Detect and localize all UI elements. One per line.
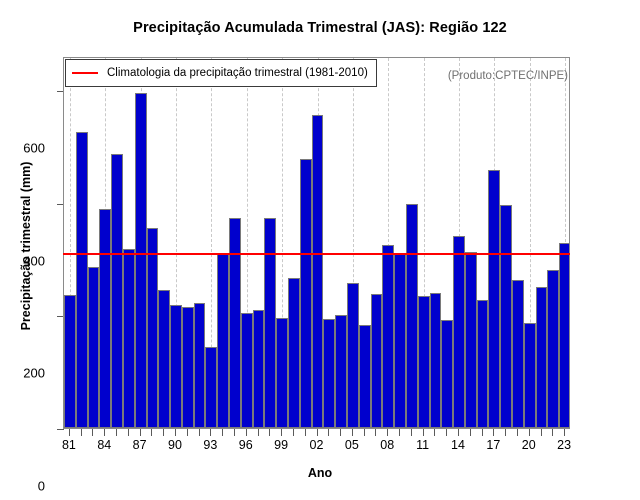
bar (536, 287, 548, 428)
bar (382, 245, 394, 428)
bar (312, 115, 324, 428)
x-axis-tick (328, 429, 329, 436)
bar (288, 278, 300, 428)
bar (147, 228, 159, 428)
bar (253, 310, 265, 428)
x-axis-tick (564, 429, 565, 436)
bar (430, 293, 442, 428)
bar (359, 325, 371, 428)
x-axis-tick-label: 11 (416, 438, 429, 452)
bar (418, 296, 430, 428)
x-axis-tick (375, 429, 376, 436)
x-axis-tick (210, 429, 211, 436)
x-axis-tick (364, 429, 365, 436)
x-axis-tick (482, 429, 483, 436)
x-axis-tick (423, 429, 424, 436)
x-axis-tick-label: 84 (97, 438, 111, 452)
bar (76, 132, 88, 428)
legend-label-climatology: Climatologia da precipitação trimestral … (107, 67, 368, 79)
bar (205, 347, 217, 428)
bar (559, 243, 569, 428)
x-axis-tick (517, 429, 518, 436)
x-axis-tick (352, 429, 353, 436)
x-axis-tick (151, 429, 152, 436)
x-axis-tick-label: 17 (486, 438, 500, 452)
bar (182, 307, 194, 428)
bar (264, 218, 276, 428)
x-axis-tick (222, 429, 223, 436)
x-axis-tick-label: 87 (133, 438, 147, 452)
chart-root: Precipitação Acumulada Trimestral (JAS):… (0, 0, 640, 500)
x-axis-tick (411, 429, 412, 436)
bar (323, 319, 335, 428)
x-axis-tick-label: 14 (451, 438, 465, 452)
bar (123, 249, 135, 428)
x-axis-tick (458, 429, 459, 436)
x-axis (63, 429, 570, 437)
x-axis-tick (529, 429, 530, 436)
x-axis-tick (128, 429, 129, 436)
bar (88, 267, 100, 428)
bar-series (64, 58, 569, 428)
bar (135, 93, 147, 428)
x-axis-tick (199, 429, 200, 436)
x-axis-tick (470, 429, 471, 436)
bar (111, 154, 123, 428)
x-axis-tick (446, 429, 447, 436)
bar (500, 205, 512, 428)
x-axis-title: Ano (0, 466, 640, 480)
bar (524, 323, 536, 428)
x-axis-tick (269, 429, 270, 436)
y-axis-tick-label: 600 (23, 140, 45, 155)
bar (217, 254, 229, 428)
bar (441, 320, 453, 428)
x-axis-tick-label: 90 (168, 438, 182, 452)
bar (453, 236, 465, 428)
bar (547, 270, 559, 428)
bar (276, 318, 288, 428)
x-axis-tick-label: 08 (380, 438, 394, 452)
bar (488, 170, 500, 428)
bar (394, 254, 406, 428)
x-axis-tick (234, 429, 235, 436)
x-axis-tick (246, 429, 247, 436)
x-axis-tick (140, 429, 141, 436)
bar (347, 283, 359, 428)
bar (477, 300, 489, 428)
bar (371, 294, 383, 428)
x-axis-tick-label: 93 (203, 438, 217, 452)
y-axis-tick-label: 400 (23, 253, 45, 268)
bar (465, 252, 477, 428)
x-axis-labels: 818487909396990205081114172023 (63, 438, 570, 458)
bar (406, 204, 418, 428)
y-axis-labels: Precipitação trimestral (mm) 0200400600 (0, 57, 57, 429)
x-axis-tick-label: 81 (62, 438, 76, 452)
x-axis-tick-label: 96 (239, 438, 253, 452)
x-axis-tick (505, 429, 506, 436)
x-axis-tick (258, 429, 259, 436)
x-axis-tick (81, 429, 82, 436)
bar (158, 290, 170, 428)
x-axis-tick (387, 429, 388, 436)
x-axis-tick (340, 429, 341, 436)
x-axis-tick (434, 429, 435, 436)
x-axis-tick (399, 429, 400, 436)
x-axis-tick (305, 429, 306, 436)
x-axis-tick (187, 429, 188, 436)
bar (99, 209, 111, 428)
page-title: Precipitação Acumulada Trimestral (JAS):… (0, 20, 640, 36)
legend-line-swatch-icon (72, 72, 98, 74)
x-axis-tick (69, 429, 70, 436)
x-axis-tick (104, 429, 105, 436)
bar (335, 315, 347, 428)
bar (64, 295, 76, 428)
y-axis-tick-label: 0 (38, 479, 45, 494)
x-axis-tick (281, 429, 282, 436)
bar (241, 313, 253, 428)
x-axis-tick (92, 429, 93, 436)
bar (300, 159, 312, 428)
climatology-reference-line (63, 253, 570, 255)
x-axis-tick-label: 20 (522, 438, 536, 452)
bar (194, 303, 206, 428)
plot-area (63, 57, 570, 429)
x-axis-tick (175, 429, 176, 436)
x-axis-tick (541, 429, 542, 436)
x-axis-tick (163, 429, 164, 436)
bar (512, 280, 524, 428)
bar (170, 305, 182, 428)
y-axis-tick-label: 200 (23, 366, 45, 381)
x-axis-tick-label: 99 (274, 438, 288, 452)
x-axis-tick-label: 05 (345, 438, 359, 452)
x-axis-tick-label: 23 (557, 438, 571, 452)
x-axis-tick (317, 429, 318, 436)
x-axis-tick (552, 429, 553, 436)
x-axis-tick (116, 429, 117, 436)
bar (229, 218, 241, 428)
x-axis-tick (493, 429, 494, 436)
legend: Climatologia da precipitação trimestral … (65, 59, 377, 87)
x-axis-tick (293, 429, 294, 436)
source-note: (Produto:CPTEC/INPE) (448, 70, 568, 82)
x-axis-tick-label: 02 (310, 438, 324, 452)
